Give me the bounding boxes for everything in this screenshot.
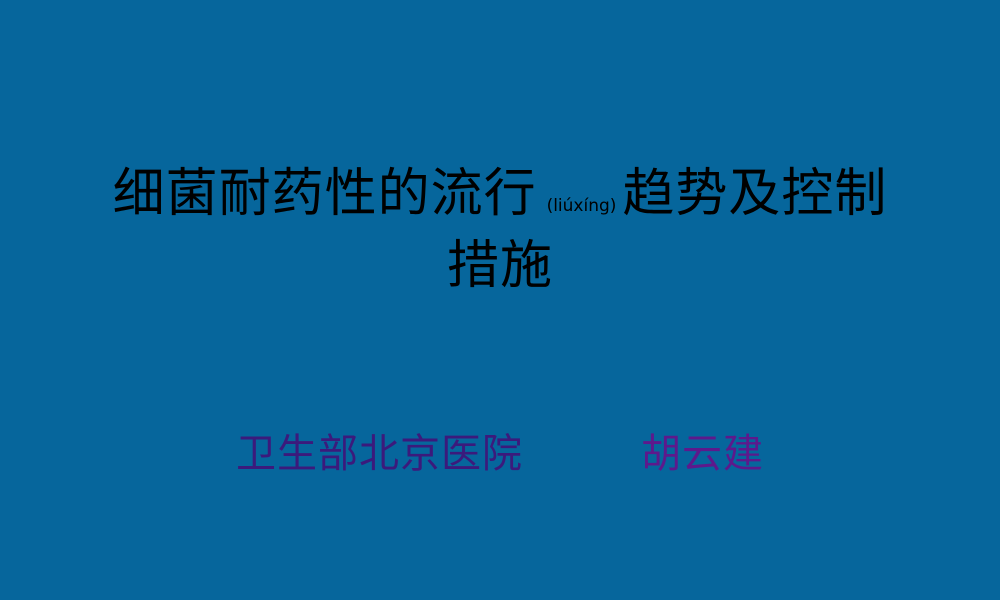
title-text-after-pinyin: 趋势及控制 <box>622 164 887 224</box>
slide-title: 细菌耐药性的流行(liúxíng)趋势及控制 措施 <box>0 158 1000 302</box>
presentation-slide: 细菌耐药性的流行(liúxíng)趋势及控制 措施 卫生部北京医院胡云建 <box>0 0 1000 600</box>
slide-byline: 卫生部北京医院胡云建 <box>0 428 1000 480</box>
title-line-second: 措施 <box>0 230 1000 302</box>
title-line-first: 细菌耐药性的流行(liúxíng)趋势及控制 <box>0 158 1000 230</box>
affiliation-text: 卫生部北京医院 <box>236 431 523 477</box>
title-text-before-pinyin: 细菌耐药性的流行 <box>113 164 537 224</box>
presenter-name: 胡云建 <box>641 431 764 477</box>
pinyin-annotation: (liúxíng) <box>537 198 623 215</box>
